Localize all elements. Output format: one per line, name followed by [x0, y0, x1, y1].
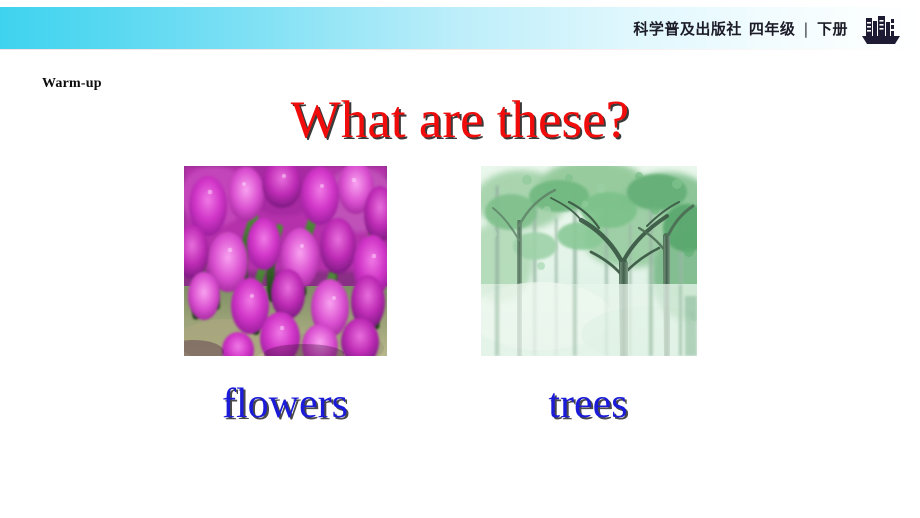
page-title: What are these? [0, 90, 920, 150]
trees-label: trees [440, 380, 736, 428]
publisher-label: 科学普及出版社 [633, 18, 742, 39]
header-separator: | [802, 20, 810, 38]
grade-label: 四年级 [749, 18, 796, 39]
flowers-photo [184, 166, 387, 356]
books-shelf-icon [860, 13, 902, 44]
volume-label: 下册 [817, 18, 848, 39]
trees-photo [481, 166, 697, 356]
header-textbook-info: 科学普及出版社 四年级 | 下册 [633, 7, 848, 50]
